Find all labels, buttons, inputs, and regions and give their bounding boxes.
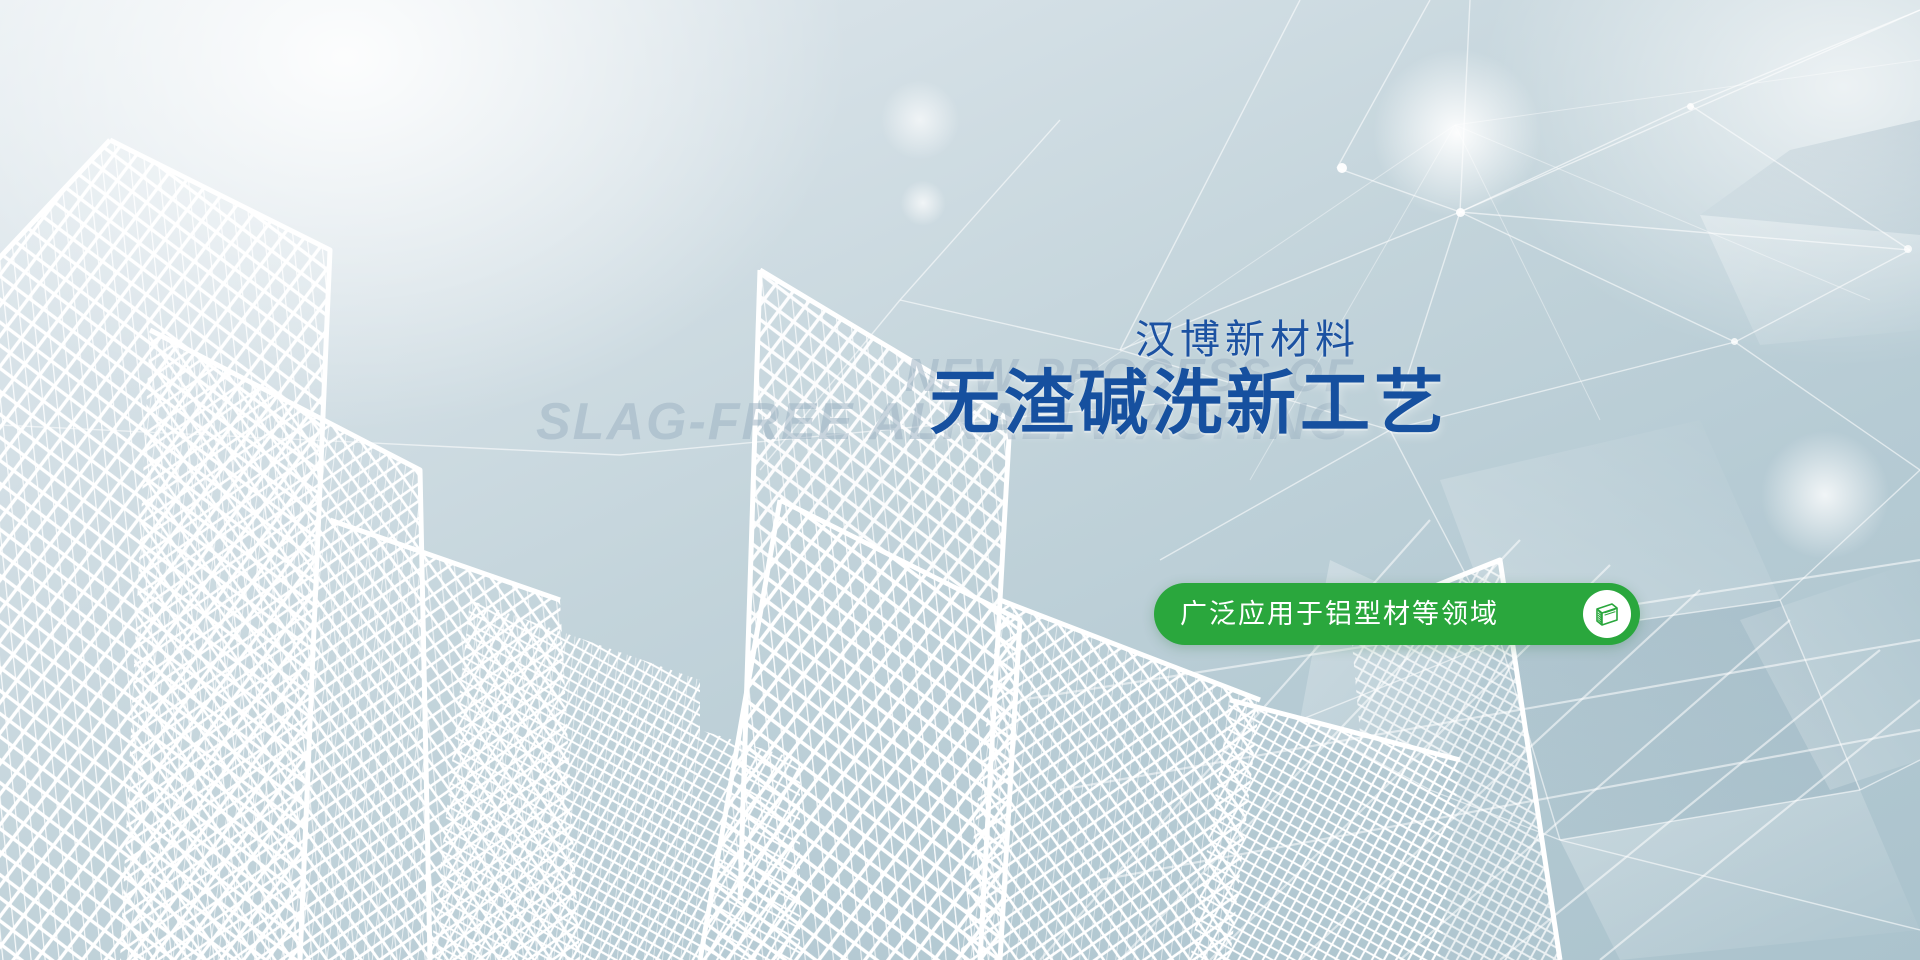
glow-node-secondary bbox=[1760, 430, 1890, 560]
glow-node-small-a bbox=[880, 80, 960, 160]
brand-name: 汉博新材料 bbox=[930, 320, 1360, 360]
network-node-dot bbox=[1687, 103, 1694, 110]
network-node-dot bbox=[1337, 163, 1347, 173]
glow-node-small-b bbox=[900, 180, 946, 226]
network-node-dot bbox=[1456, 208, 1465, 217]
page-title: 无渣碱洗新工艺 bbox=[930, 366, 1360, 440]
hero-banner: NEW PROCESS OF SLAG-FREE ALKALI WASHING … bbox=[0, 0, 1920, 960]
network-constellation-graphic bbox=[0, 0, 1920, 960]
network-node-dot bbox=[1731, 338, 1738, 345]
network-node-dot bbox=[1904, 245, 1912, 253]
glow-node-primary bbox=[1372, 48, 1542, 218]
application-badge-label: 广泛应用于铝型材等领域 bbox=[1180, 601, 1499, 628]
aluminium-profile-icon bbox=[1583, 590, 1631, 638]
headline-block: 汉博新材料 无渣碱洗新工艺 bbox=[930, 320, 1360, 440]
wireframe-city-graphic bbox=[0, 0, 1920, 960]
application-badge[interactable]: 广泛应用于铝型材等领域 bbox=[1154, 583, 1640, 645]
